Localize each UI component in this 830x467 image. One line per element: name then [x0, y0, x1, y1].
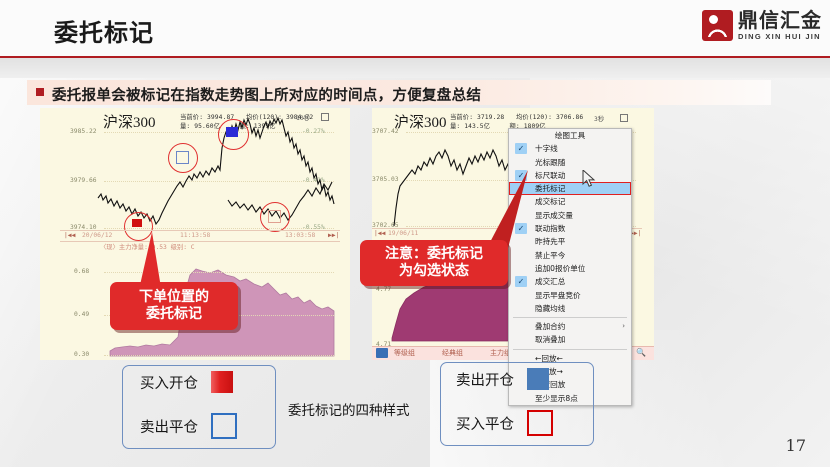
left-lower-axis-3: 0.30 [74, 351, 89, 358]
left-nav-prev-icon[interactable]: |◀◀ [64, 232, 75, 239]
bullet-text: 委托报单会被标记在指数走势图上所对应的时间点，方便复盘总结 [52, 84, 481, 105]
legend-swatch-sell-open [527, 368, 549, 390]
legend-row-sell-open: 卖出开仓 [456, 368, 549, 390]
brand-logo: 鼎信汇金 DING XIN HUI JIN [702, 10, 822, 41]
left-marker-ring-1 [168, 143, 198, 173]
legend-row-buy-close: 买入平仓 [456, 410, 553, 436]
menu-item-label: 成交汇总 [535, 277, 565, 286]
menu-item-label: 叠加合约 [535, 322, 565, 331]
right-tab-0[interactable]: 等级组 [394, 348, 415, 358]
menu-item-12[interactable]: 隐藏均线 [509, 302, 631, 315]
menu-header: 绘图工具 [509, 129, 631, 142]
legend-label-sell-close: 卖出平仓 [140, 416, 198, 437]
bullet-square-icon [36, 88, 44, 96]
legend-swatch-buy-open [211, 371, 233, 393]
legend-swatch-buy-close [527, 410, 553, 436]
logo-name-en: DING XIN HUI JIN [738, 33, 822, 41]
menu-divider [513, 317, 627, 318]
left-callout-line2: 委托标记 [139, 306, 209, 324]
menu-item-11[interactable]: 显示早盘竞价 [509, 289, 631, 302]
header-shadow [0, 58, 830, 78]
menu-item-13[interactable]: 叠加合约› [509, 320, 631, 333]
legend-middle-label: 委托标记的四种样式 [288, 399, 410, 419]
left-callout: 下单位置的 委托标记 [110, 282, 238, 330]
left-lower-axis-2: 0.49 [74, 311, 89, 318]
right-time-start: 19/06/11 [388, 230, 418, 237]
logo-name-cn: 鼎信汇金 [738, 10, 822, 30]
right-tab-1[interactable]: 经典组 [442, 348, 463, 358]
menu-item-label: 十字线 [535, 144, 558, 153]
legend-label-sell-open: 卖出开仓 [456, 369, 514, 390]
left-price-line-right-segment [40, 108, 350, 238]
menu-item-label: 取消叠加 [535, 335, 565, 344]
header-divider-rule [0, 56, 830, 58]
menu-item-0[interactable]: 十字线 [509, 142, 631, 155]
slide-root: 委托标记 鼎信汇金 DING XIN HUI JIN 委托报单会被标记在指数走势… [0, 0, 830, 467]
menu-item-label: 隐藏均线 [535, 304, 565, 313]
legend-swatch-sell-close [211, 413, 237, 439]
left-nav-next-icon[interactable]: ▶▶| [328, 232, 339, 239]
submenu-chevron-right-icon: › [622, 320, 625, 333]
page-number: 17 [786, 436, 806, 455]
right-tabbar-layout-icon[interactable] [376, 348, 388, 358]
right-tabbar-search-icon[interactable]: 🔍 [636, 348, 646, 357]
menu-item-label: 显示早盘竞价 [535, 291, 581, 300]
left-lower-axis-1: 0.68 [74, 268, 89, 275]
right-lower-axis-1: 4.77 [376, 286, 391, 293]
legend-label-buy-open: 买入开仓 [140, 372, 198, 393]
legend-row-sell-close: 卖出平仓 [140, 413, 237, 439]
left-marker-ring-2 [218, 119, 249, 150]
right-callout-line2: 为勾选状态 [385, 263, 483, 281]
right-nav-prev-icon[interactable]: |◀◀ [374, 230, 385, 237]
left-callout-line1: 下单位置的 [139, 289, 209, 307]
right-callout-line1: 注意：委托标记 [385, 246, 483, 264]
page-title: 委托标记 [54, 13, 154, 48]
logo-text: 鼎信汇金 DING XIN HUI JIN [738, 10, 822, 41]
menu-divider [513, 349, 627, 350]
left-lower-gridline-3 [104, 355, 334, 356]
legend-label-buy-close: 买入平仓 [456, 413, 514, 434]
menu-item-10[interactable]: 成交汇总 [509, 275, 631, 288]
right-callout: 注意：委托标记 为勾选状态 [360, 240, 508, 286]
logo-mark-icon [702, 10, 733, 41]
menu-item-14[interactable]: 取消叠加 [509, 333, 631, 346]
legend-row-buy-open: 买入开仓 [140, 371, 233, 393]
